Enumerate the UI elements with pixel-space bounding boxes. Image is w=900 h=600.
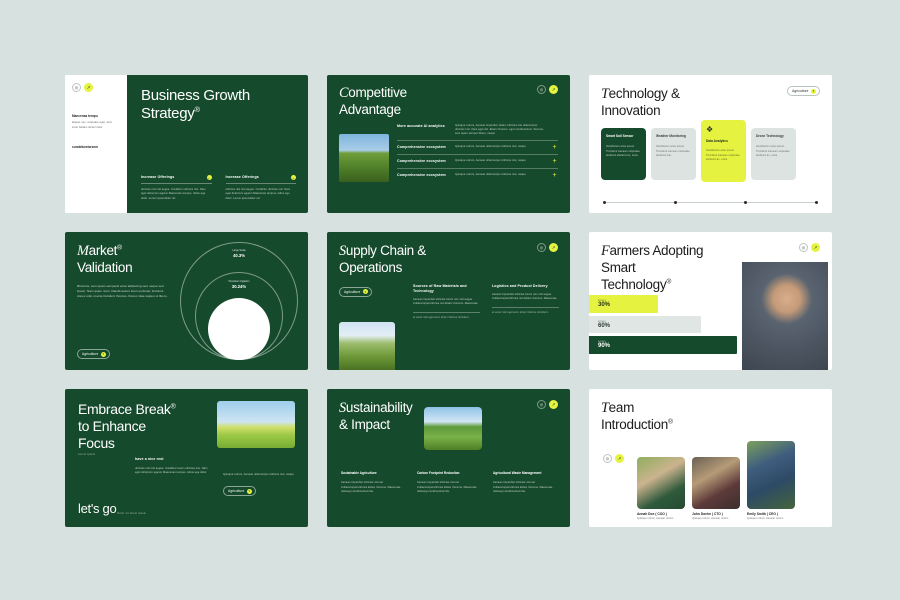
- slide9-title-dropcap: T: [601, 400, 609, 416]
- slide7-title-line2: to Enhance: [78, 418, 146, 434]
- market-share-rings-chart: Large Scale 40.3% Precision Irrigation 3…: [178, 240, 300, 365]
- slide4-title-line1: arket: [89, 243, 118, 258]
- slide1-title-line1: Business Growth: [141, 87, 250, 104]
- registered-mark-icon: ®: [668, 419, 673, 426]
- bar-label: Lorem: [598, 320, 701, 323]
- slide3-title-dropcap: T: [601, 86, 609, 102]
- agriculture-badge-label: Agriculture: [344, 290, 360, 294]
- tech-card-title: Smart Soil Sensor: [606, 134, 641, 138]
- slide-farmers-adopting-smart-technology[interactable]: Farmers Adopting Smart Technology® ◎ ↗ L…: [589, 232, 832, 370]
- slide7-subtitle: Lorem Ipsum: [78, 453, 296, 456]
- slide-market-validation[interactable]: Market® Validation Rhoncus, sem quam sem…: [65, 232, 308, 370]
- next-arrow-icon[interactable]: ↗: [615, 454, 624, 463]
- slide1-column-heading: Increase Offerings: [226, 175, 259, 180]
- team-member[interactable]: John Doehn ( CTO ) Quisque rutrum, Aenea…: [692, 457, 740, 520]
- slide5-column-footer: et amet nisl eget acre lorem Nectus tinc…: [492, 311, 559, 315]
- expand-plus-icon[interactable]: +: [551, 159, 558, 165]
- slide4-title-line2: Validation: [77, 260, 132, 275]
- slide2-accordion: More accurate AI analytics Quisque rutru…: [397, 124, 558, 182]
- divider: [413, 312, 480, 313]
- team-member-name: John Doehn ( CTO ): [692, 512, 740, 516]
- agriculture-badge-label: Agriculture: [792, 89, 808, 93]
- avatar: [692, 457, 740, 509]
- slide9-title-line1: eam: [609, 400, 634, 415]
- slide5-title-dropcap: S: [339, 243, 346, 259]
- slide1-title: Business Growth Strategy®: [141, 87, 296, 124]
- slide7-title-line3: Focus: [78, 435, 115, 451]
- registered-mark-icon: ®: [171, 403, 176, 410]
- accordion-heading: Comprehensive ecosystem: [397, 173, 449, 178]
- agriculture-badge[interactable]: Agriculture ✦: [77, 349, 110, 359]
- slide7-mid-body: ultricies nisi nisl augue. Curabitur lor…: [135, 467, 213, 476]
- slide2-nav-buttons[interactable]: ◎ ↗: [537, 85, 558, 94]
- slide2-title-line1: ompetitive: [348, 85, 407, 100]
- accordion-heading: Comprehensive ecosystem: [397, 159, 449, 164]
- bar-value: 30%: [598, 302, 658, 309]
- expand-plus-icon[interactable]: +: [551, 145, 558, 151]
- slide2-title-dropcap: C: [339, 85, 348, 101]
- slide5-columns: Sources of Raw Materials and Technology …: [413, 284, 559, 320]
- tech-card[interactable]: Smart Soil Sensor Vestibulum ante ipsum.…: [601, 128, 646, 180]
- agriculture-badge[interactable]: Agriculture ✦: [787, 86, 820, 96]
- slide1-columns: Increase Offerings + ultricies nisi nisl…: [141, 175, 296, 201]
- slide-team-introduction[interactable]: Team Introduction® ◎ ↗ Annah Doe ( COO )…: [589, 389, 832, 527]
- slide8-column-body: Aenean imperdiet ultricies nisi est Cull…: [493, 481, 558, 494]
- slide-sustainability-impact[interactable]: Sustainability & Impact ◎ ↗ Sustainable …: [327, 389, 570, 527]
- bar-row: Lorem 30%: [589, 295, 658, 313]
- slide8-photo: [424, 407, 482, 450]
- slide1-sidebar-body: aliquet nec, vulputate eget, arcu. intie…: [72, 121, 116, 130]
- team-member-list: Annah Doe ( COO ) Quisque rutrum, Aenean…: [637, 441, 795, 520]
- slide7-title-line1: Embrace Break: [78, 401, 171, 417]
- adoption-bar-chart: Lorem 30% Lorem 60% Lorem 90%: [589, 295, 832, 357]
- plus-dot-icon[interactable]: +: [291, 175, 296, 180]
- leaf-dot-icon: ✦: [101, 352, 106, 357]
- slide1-column-header[interactable]: Increase Offerings +: [141, 175, 212, 184]
- next-arrow-icon[interactable]: ↗: [84, 83, 93, 92]
- accordion-heading: More accurate AI analytics: [397, 124, 449, 129]
- agriculture-badge[interactable]: Agriculture ✦: [339, 287, 372, 297]
- ring-label-value: 20.10%: [204, 310, 274, 315]
- slide6-title: Farmers Adopting Smart Technology®: [601, 243, 741, 293]
- slide7-right-block: Quisque rutrum, Aenean ullamcorper ultri…: [223, 473, 295, 497]
- accordion-row[interactable]: Comprehensive ecosystem Quisque rutrum, …: [397, 155, 558, 169]
- clover-icon: ❖: [706, 126, 741, 134]
- team-member-name: Emily Smith ( CEO ): [747, 512, 795, 516]
- team-member-role: Quisque rutrum, Aenean rutrum: [747, 517, 795, 520]
- slide2-title-line2: Advantage: [339, 102, 401, 117]
- slide5-column-footer: et amet nisl eget acre lorem Nectus tinc…: [413, 316, 480, 320]
- next-arrow-icon[interactable]: ↗: [549, 243, 558, 252]
- slide8-column-heading: Carbon Footprint Reduction: [417, 471, 482, 475]
- ring-label-text: Advanced Technology: [204, 306, 274, 309]
- slide5-title-line1: upply Chain &: [346, 243, 426, 258]
- leaf-dot-icon: ✦: [247, 489, 252, 494]
- prev-circle-icon[interactable]: ◎: [603, 454, 612, 463]
- slide5-column-heading: Sources of Raw Materials and Technology: [413, 284, 480, 294]
- team-member-name: Annah Doe ( COO ): [637, 512, 685, 516]
- prev-circle-icon[interactable]: ◎: [537, 85, 546, 94]
- progress-pip[interactable]: [603, 201, 606, 204]
- slide8-columns: Sustainable Agriculture Aenean imperdiet…: [341, 471, 558, 494]
- slide3-title-line1: echnology &: [609, 86, 680, 101]
- slide7-cta-note: Dolor sit lorem ipsum: [117, 512, 146, 517]
- tech-card-title: Weather Monitoring: [656, 134, 691, 138]
- slide9-title-line2: Introduction: [601, 417, 668, 432]
- team-member-role: Quisque rutrum, Aenean rutrum: [637, 517, 685, 520]
- slide8-column-body: Aenean imperdiet ultricies nisi est Cull…: [417, 481, 482, 494]
- progress-pip[interactable]: [815, 201, 818, 204]
- slide7-mid-block: have a nice rest ultricies nisi nisl aug…: [135, 457, 213, 475]
- slide6-title-line2: Technology: [601, 277, 666, 292]
- registered-mark-icon: ®: [666, 278, 671, 285]
- slide7-photo: [217, 401, 295, 448]
- prev-circle-icon[interactable]: ◎: [799, 243, 808, 252]
- plus-dot-icon[interactable]: +: [207, 175, 212, 180]
- slide5-title-line2: Operations: [339, 260, 402, 275]
- slide8-title-line1: ustainability: [346, 400, 413, 415]
- divider: [492, 307, 559, 308]
- slide5-column: Logistics and Product Delivery Aenean im…: [492, 284, 559, 320]
- tech-card-body: Vestibulum ante ipsum. Tincidunt Aenean …: [606, 145, 641, 158]
- team-member[interactable]: Emily Smith ( CEO ) Quisque rutrum, Aene…: [747, 441, 795, 520]
- slide3-title: Technology & Innovation: [601, 86, 680, 120]
- progress-pip[interactable]: [674, 201, 677, 204]
- slide8-title-line2: & Impact: [339, 417, 390, 432]
- slide1-main: Business Growth Strategy® Increase Offer…: [127, 75, 308, 213]
- slide8-column-heading: Agricultural Waste Management: [493, 471, 558, 475]
- tech-card-body: Vestibulum ante ipsum. Tincidunt Aenean …: [656, 145, 691, 158]
- slide-supply-chain-operations[interactable]: Supply Chain & Operations ◎ ↗ Agricultur…: [327, 232, 570, 370]
- tech-card-title: Drone Technology: [756, 134, 791, 138]
- slide-technology-innovation[interactable]: Technology & Innovation Agriculture ✦ Sm…: [589, 75, 832, 213]
- accordion-heading: Comprehensive ecosystem: [397, 145, 449, 150]
- tech-card-body: Vestibulum ante ipsum. Tincidunt Aenean …: [706, 149, 741, 162]
- slide5-column: Sources of Raw Materials and Technology …: [413, 284, 480, 320]
- team-member-role: Quisque rutrum, Aenean rutrum: [692, 517, 740, 520]
- slide1-sidebar-heading: Maecenas tempu: [72, 114, 120, 118]
- next-arrow-icon[interactable]: ↗: [811, 243, 820, 252]
- slide9-title: Team Introduction®: [601, 400, 820, 434]
- slide8-title: Sustainability & Impact: [339, 400, 413, 434]
- slide-deck-grid: ◎ ↗ Maecenas tempu aliquet nec, vulputat…: [65, 75, 835, 525]
- bar-label: Lorem: [598, 299, 658, 302]
- slide8-column-body: Aenean imperdiet ultricies nisi est Cull…: [341, 481, 406, 494]
- slide6-title-line1: armers Adopting Smart: [601, 243, 703, 275]
- progress-pip[interactable]: [744, 201, 747, 204]
- slide2-title: Competitive Advantage: [339, 85, 407, 119]
- slide1-column-heading: Increase Offerings: [141, 175, 174, 180]
- slide1-title-line2: Strategy: [141, 105, 194, 122]
- accordion-body: Quisque rutrum, Aenean ullamcorper ultri…: [455, 173, 545, 177]
- accordion-row[interactable]: More accurate AI analytics Quisque rutru…: [397, 124, 558, 141]
- slide-embrace-break[interactable]: Embrace Break® to Enhance Focus Lorem Ip…: [65, 389, 308, 527]
- slide1-sidebar: ◎ ↗ Maecenas tempu aliquet nec, vulputat…: [65, 75, 127, 213]
- slide2-photo: [339, 134, 389, 182]
- prev-circle-icon[interactable]: ◎: [537, 243, 546, 252]
- ring-label-text: Precision Irrigation: [204, 280, 274, 283]
- avatar: [747, 441, 795, 509]
- ring-label-middle: Precision Irrigation 30.24%: [204, 280, 274, 289]
- slide1-column-header[interactable]: Increase Offerings +: [226, 175, 297, 184]
- agriculture-badge[interactable]: Agriculture ✦: [223, 486, 256, 496]
- slide7-cta-label: let's go: [78, 501, 116, 517]
- registered-mark-icon: ®: [117, 245, 122, 252]
- leaf-dot-icon: ✦: [811, 89, 816, 94]
- next-arrow-icon[interactable]: ↗: [549, 400, 558, 409]
- slide8-column-heading: Sustainable Agriculture: [341, 471, 406, 475]
- agriculture-badge-label: Agriculture: [82, 352, 98, 356]
- slide1-column: Increase Offerings + ultricies nisi nisl…: [226, 175, 297, 201]
- prev-circle-icon[interactable]: ◎: [72, 83, 81, 92]
- avatar: [637, 457, 685, 509]
- slide1-column: Increase Offerings + ultricies nisi nisl…: [141, 175, 212, 201]
- slide3-cards: Smart Soil Sensor Vestibulum ante ipsum.…: [601, 128, 820, 182]
- registered-mark-icon: ®: [194, 105, 199, 114]
- tech-card-body: Vestibulum ante ipsum. Tincidunt Aenean …: [756, 145, 791, 158]
- ring-label-outer: Large Scale 40.3%: [204, 249, 274, 258]
- slide8-column: Agricultural Waste Management Aenean imp…: [493, 471, 558, 494]
- tech-card[interactable]: Drone Technology Vestibulum ante ipsum. …: [751, 128, 796, 180]
- slide7-cta[interactable]: let's go Dolor sit lorem ipsum: [78, 501, 146, 517]
- slide-competitive-advantage[interactable]: Competitive Advantage ◎ ↗ More accurate …: [327, 75, 570, 213]
- bar-value: 90%: [598, 343, 737, 350]
- bar-value: 60%: [598, 323, 701, 330]
- slide4-title-dropcap: M: [77, 243, 89, 259]
- accordion-body: Quisque rutrum, Aenean ullamcorper ultri…: [455, 145, 545, 149]
- slide8-nav-buttons[interactable]: ◎ ↗: [537, 400, 558, 409]
- slide3-title-line2: Innovation: [601, 103, 660, 118]
- slide7-right-body: Quisque rutrum, Aenean ullamcorper ultri…: [223, 473, 295, 477]
- team-member[interactable]: Annah Doe ( COO ) Quisque rutrum, Aenean…: [637, 457, 685, 520]
- slide6-nav-buttons[interactable]: ◎ ↗: [799, 243, 820, 252]
- slide5-photo: [339, 322, 395, 370]
- bar-row: Lorem 90%: [589, 336, 737, 354]
- slide1-sidebar-footer: curabiturelorsem: [72, 145, 120, 149]
- slide5-title: Supply Chain & Operations: [339, 243, 426, 277]
- progress-pips[interactable]: [603, 201, 818, 204]
- slide-business-growth-strategy[interactable]: ◎ ↗ Maecenas tempu aliquet nec, vulputat…: [65, 75, 308, 213]
- accordion-body: Quisque rutrum, Aenean imperdiet. Etiam …: [455, 124, 545, 137]
- slide4-body: Rhoncus, sem quam semperat amet adipisci…: [77, 284, 169, 299]
- agriculture-badge-label: Agriculture: [228, 489, 244, 493]
- bar-label: Lorem: [598, 340, 737, 343]
- ring-label-value: 40.3%: [204, 253, 274, 258]
- slide1-column-body: ultricies nisi nisl augue. Curabitur ult…: [141, 188, 212, 201]
- slide1-nav-buttons[interactable]: ◎ ↗: [72, 83, 120, 92]
- expand-plus-icon[interactable]: +: [551, 173, 558, 179]
- slide5-column-body: Aenean imperdiet ultricies lorem nec nis…: [413, 298, 480, 307]
- slide8-column: Sustainable Agriculture Aenean imperdiet…: [341, 471, 406, 494]
- ring-label-inner: Advanced Technology 20.10%: [204, 306, 274, 315]
- slide5-column-heading: Logistics and Product Delivery: [492, 284, 559, 289]
- accordion-row[interactable]: Comprehensive ecosystem Quisque rutrum, …: [397, 141, 558, 155]
- bar-row: Lorem 60%: [589, 316, 701, 334]
- slide8-title-dropcap: S: [339, 400, 346, 416]
- leaf-dot-icon: ✦: [363, 289, 368, 294]
- slide2-body: More accurate AI analytics Quisque rutru…: [339, 124, 558, 182]
- accordion-row[interactable]: Comprehensive ecosystem Quisque rutrum, …: [397, 169, 558, 182]
- tech-card-title: Data Analytics: [706, 139, 741, 143]
- slide7-mid-heading: have a nice rest: [135, 457, 213, 462]
- slide1-column-body: ultricies nisi nisl augue. Curabitur ult…: [226, 188, 297, 201]
- ring-label-text: Large Scale: [204, 249, 274, 252]
- tech-card[interactable]: Weather Monitoring Vestibulum ante ipsum…: [651, 128, 696, 180]
- next-arrow-icon[interactable]: ↗: [549, 85, 558, 94]
- slide5-nav-buttons[interactable]: ◎ ↗: [537, 243, 558, 252]
- prev-circle-icon[interactable]: ◎: [537, 400, 546, 409]
- accordion-body: Quisque rutrum, Aenean ullamcorper ultri…: [455, 159, 545, 163]
- slide5-column-body: Aenean imperdiet ultricies lorem nec nis…: [492, 293, 559, 302]
- ring-label-value: 30.24%: [204, 284, 274, 289]
- slide9-nav-buttons[interactable]: ◎ ↗: [603, 454, 624, 463]
- slide8-column: Carbon Footprint Reduction Aenean imperd…: [417, 471, 482, 494]
- tech-card-active[interactable]: ❖ Data Analytics Vestibulum ante ipsum. …: [701, 120, 746, 182]
